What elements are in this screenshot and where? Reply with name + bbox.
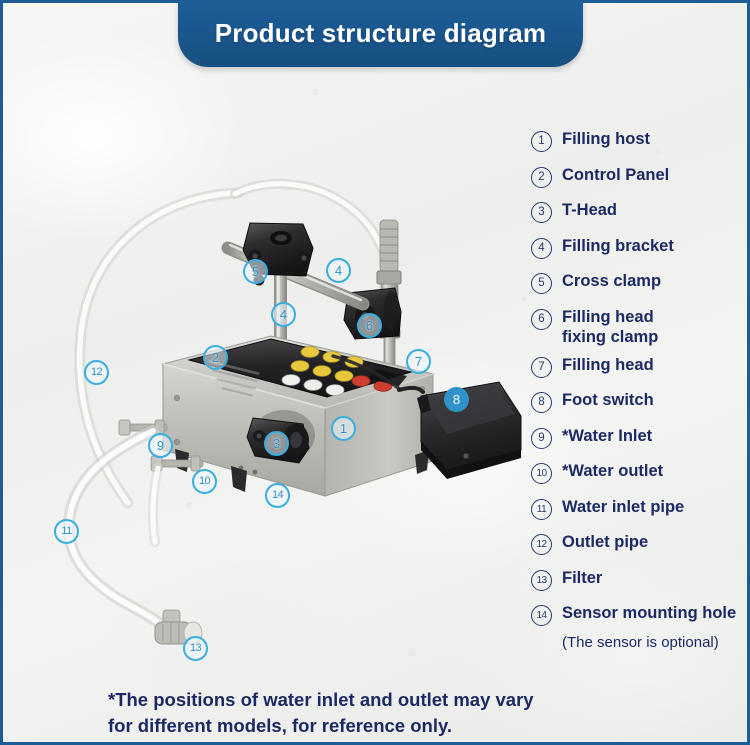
callout-8: 8 <box>444 387 469 412</box>
callout-5: 5 <box>243 259 268 284</box>
legend-item-2: 2 Control Panel <box>531 165 749 188</box>
legend-number: 5 <box>531 273 552 294</box>
legend-number: 10 <box>531 463 552 484</box>
callout-6: 6 <box>357 313 382 338</box>
callout-4-horizontal: 4 <box>326 258 351 283</box>
legend-item-13: 13 Filter <box>531 568 749 591</box>
legend-item-7: 7 Filling head <box>531 355 749 378</box>
legend-item-3: 3 T-Head <box>531 200 749 223</box>
callout-7: 7 <box>406 349 431 374</box>
legend-label: Filling head fixing clamp <box>562 307 658 347</box>
legend-label: *Water Inlet <box>562 426 652 446</box>
legend-number: 2 <box>531 167 552 188</box>
legend-item-12: 12 Outlet pipe <box>531 532 749 555</box>
callout-1: 1 <box>331 416 356 441</box>
callout-4-vertical: 4 <box>271 302 296 327</box>
callout-14: 14 <box>265 483 290 508</box>
legend-label: *Water outlet <box>562 461 663 481</box>
legend-item-6: 6 Filling head fixing clamp <box>531 307 749 347</box>
legend-number: 4 <box>531 238 552 259</box>
callout-10: 10 <box>192 469 217 494</box>
callout-3: 3 <box>264 431 289 456</box>
legend-item-11: 11 Water inlet pipe <box>531 497 749 520</box>
legend-item-14: 14 Sensor mounting hole <box>531 603 749 626</box>
legend-label: Filter <box>562 568 602 588</box>
legend-list: 1 Filling host 2 Control Panel 3 T-Head … <box>531 129 749 651</box>
legend-item-9: 9 *Water Inlet <box>531 426 749 449</box>
legend-label: Sensor mounting hole <box>562 603 736 623</box>
legend-label: Filling bracket <box>562 236 674 256</box>
product-illustration: 1 2 3 4 4 5 6 7 8 9 10 11 12 13 14 <box>3 98 528 698</box>
legend-number: 12 <box>531 534 552 555</box>
legend-label: Water inlet pipe <box>562 497 684 517</box>
page-title: Product structure diagram <box>215 18 547 49</box>
callout-11: 11 <box>54 519 79 544</box>
legend-label: Cross clamp <box>562 271 661 291</box>
legend-item-8: 8 Foot switch <box>531 390 749 413</box>
legend-number: 7 <box>531 357 552 378</box>
legend-number: 13 <box>531 570 552 591</box>
legend-number: 9 <box>531 428 552 449</box>
legend-item-4: 4 Filling bracket <box>531 236 749 259</box>
callout-2: 2 <box>203 345 228 370</box>
legend-item-5: 5 Cross clamp <box>531 271 749 294</box>
legend-number: 14 <box>531 605 552 626</box>
legend-item-10: 10 *Water outlet <box>531 461 749 484</box>
legend-number: 3 <box>531 202 552 223</box>
legend-number: 11 <box>531 499 552 520</box>
legend-note: (The sensor is optional) <box>562 634 749 651</box>
legend-item-1: 1 Filling host <box>531 129 749 152</box>
legend-label: Foot switch <box>562 390 654 410</box>
callout-13: 13 <box>183 636 208 661</box>
legend-label: Filling head <box>562 355 654 375</box>
legend-label: Control Panel <box>562 165 669 185</box>
legend-number: 6 <box>531 309 552 330</box>
legend-label: Outlet pipe <box>562 532 648 552</box>
legend-label: Filling host <box>562 129 650 149</box>
product-diagram-page: Product structure diagram <box>0 0 750 745</box>
legend-number: 8 <box>531 392 552 413</box>
callout-9: 9 <box>148 433 173 458</box>
footnote-text: *The positions of water inlet and outlet… <box>108 687 668 739</box>
legend-label: T-Head <box>562 200 617 220</box>
page-title-banner: Product structure diagram <box>178 0 583 67</box>
legend-number: 1 <box>531 131 552 152</box>
callout-12: 12 <box>84 360 109 385</box>
